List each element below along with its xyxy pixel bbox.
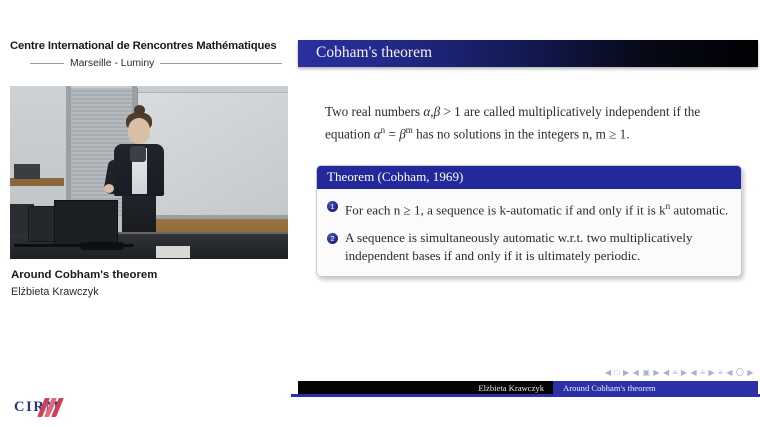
numbered-bullet-icon-2: 2	[327, 233, 338, 244]
conference-title: Centre International de Rencontres Mathé…	[10, 40, 282, 52]
video-speaker-head	[128, 118, 150, 144]
video-cable	[14, 244, 134, 247]
slide-panel: Cobham's theorem Two real numbers α,β > …	[291, 0, 760, 427]
slide-title-bar: Cobham's theorem	[298, 40, 758, 67]
slide-footer-bar: Elżbieta Krawczyk Around Cobham's theore…	[298, 381, 758, 394]
footer-accent-strip	[291, 394, 760, 397]
nav-symbol-icon[interactable]: ▶	[708, 368, 715, 377]
body-equals: =	[385, 126, 399, 141]
theorem-item: 2 A sequence is simultaneously automatic…	[327, 229, 729, 266]
theorem-item-text-2: A sequence is simultaneously automatic w…	[345, 229, 729, 266]
beamer-navigation-symbols[interactable]: ◀□▶◀▣▶◀≡▶◀≡▶≡◀〇▶	[586, 366, 754, 378]
symbol-alpha-2: α	[374, 126, 381, 141]
slide-title: Cobham's theorem	[316, 44, 432, 62]
divider-right	[160, 63, 282, 64]
video-laptop	[54, 200, 118, 246]
nav-symbol-icon[interactable]: ▶	[747, 368, 754, 377]
nav-symbol-icon[interactable]: □	[615, 368, 620, 377]
talk-speaker: Elżbieta Krawczyk	[11, 286, 99, 298]
nav-symbol-icon[interactable]: 〇	[736, 367, 745, 378]
nav-symbol-icon[interactable]: ◀	[663, 368, 670, 377]
theorem-box: Theorem (Cobham, 1969) 1 For each n ≥ 1,…	[316, 165, 742, 277]
theorem-item: 1 For each n ≥ 1, a sequence is k-automa…	[327, 197, 729, 220]
theorem-box-body: 1 For each n ≥ 1, a sequence is k-automa…	[317, 189, 741, 276]
body-line-1-pre: Two real numbers	[325, 104, 423, 119]
theorem-item-1-line-1: For each n ≥ 1, a sequence is k-automati…	[345, 202, 656, 217]
nav-symbol-icon[interactable]: ▣	[642, 368, 650, 377]
presentation-viewer: Centre International de Rencontres Mathé…	[0, 0, 760, 427]
nav-symbol-icon[interactable]: ◀	[691, 368, 698, 377]
video-speaker-scarf	[130, 146, 146, 162]
nav-symbol-icon[interactable]: ≡	[700, 368, 705, 377]
nav-symbol-icon[interactable]: ◀	[633, 368, 640, 377]
theorem-item-2-line-1: A sequence is simultaneously automatic w…	[345, 230, 606, 245]
body-line-1-post: > 1 are called multiplicatively	[440, 104, 602, 119]
symbol-beta-2: β	[399, 126, 406, 141]
nav-symbol-icon[interactable]: ◀	[605, 368, 612, 377]
nav-symbol-icon[interactable]: ▶	[653, 368, 660, 377]
nav-symbol-icon[interactable]: ≡	[673, 368, 678, 377]
theorem-item-2-line-3: ultimately periodic.	[538, 248, 641, 263]
video-papers	[156, 246, 190, 258]
video-side-table	[10, 178, 64, 186]
video-printer	[14, 164, 40, 179]
nav-symbol-icon[interactable]: ▶	[681, 368, 688, 377]
conference-location: Marseille - Luminy	[70, 58, 154, 69]
talk-title: Around Cobham's theorem	[11, 269, 157, 281]
footer-speaker: Elżbieta Krawczyk	[298, 381, 553, 394]
exponent-m: m	[406, 125, 413, 135]
theorem-item-text-1: For each n ≥ 1, a sequence is k-automati…	[345, 197, 729, 220]
nav-symbol-icon[interactable]: ◀	[726, 368, 733, 377]
left-panel: Centre International de Rencontres Mathé…	[0, 0, 291, 427]
video-thumbnail[interactable]	[10, 86, 288, 259]
divider-left	[30, 63, 64, 64]
cirm-logo[interactable]: CIRM	[14, 396, 100, 420]
video-speaker-hair-bun	[134, 105, 145, 115]
theorem-box-header: Theorem (Cobham, 1969)	[317, 166, 741, 189]
conference-header: Centre International de Rencontres Mathé…	[10, 40, 282, 69]
body-line-2-post: has no solutions in the	[413, 126, 534, 141]
nav-symbol-icon[interactable]: ▶	[623, 368, 630, 377]
conference-subtitle-row: Marseille - Luminy	[10, 58, 282, 69]
footer-talk-title: Around Cobham's theorem	[553, 381, 758, 394]
numbered-bullet-icon-1: 1	[327, 201, 338, 212]
body-line-3: integers n, m ≥ 1.	[537, 126, 629, 141]
slide-body-paragraph: Two real numbers α,β > 1 are called mult…	[325, 102, 739, 143]
theorem-item-1-rest: automatic.	[670, 202, 728, 217]
video-speaker-hand	[104, 184, 114, 193]
nav-symbol-icon[interactable]: ≡	[718, 368, 723, 377]
